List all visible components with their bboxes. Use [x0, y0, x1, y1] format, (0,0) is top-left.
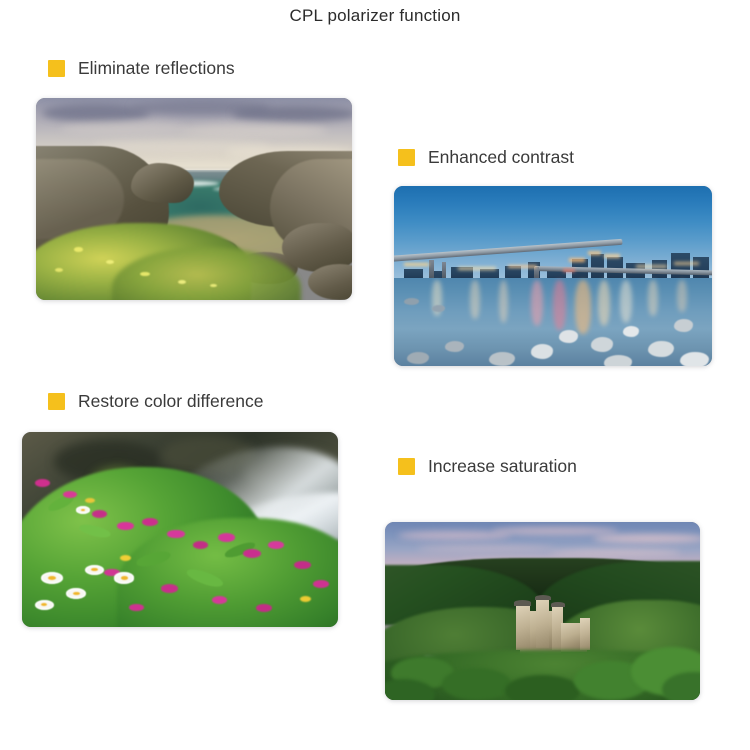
pebble [591, 337, 613, 351]
pebble [559, 330, 578, 343]
castle-tower [516, 604, 530, 650]
light-reflection [648, 280, 658, 316]
magenta-flower [212, 596, 228, 604]
magenta-flower [35, 479, 51, 487]
window-light [604, 254, 620, 258]
magenta-flower [161, 584, 178, 593]
pebble [531, 344, 553, 358]
cloud [549, 549, 681, 556]
magenta-flower [63, 491, 77, 498]
window-light [674, 262, 699, 265]
magenta-flower [218, 533, 235, 542]
pebble [407, 352, 429, 365]
building [693, 257, 709, 280]
magenta-flower [256, 604, 272, 612]
light-reflection [620, 280, 633, 323]
infographic-page: CPL polarizer function Eliminate reflect… [0, 0, 750, 750]
city-river-scene [394, 186, 712, 366]
castle-roof [535, 595, 551, 600]
stream-wildflowers-photo [22, 432, 338, 627]
treetop [442, 668, 511, 700]
white-daisy [41, 572, 63, 584]
white-daisy [35, 600, 54, 610]
city-river-dusk-photo [394, 186, 712, 366]
page-title: CPL polarizer function [0, 6, 750, 26]
caption-label: Restore color difference [78, 391, 263, 412]
yellow-flower [120, 555, 131, 561]
light-reflection [575, 280, 591, 334]
yellow-square-bullet-icon [398, 458, 415, 475]
caption-label: Increase saturation [428, 456, 577, 477]
caption-enhanced-contrast: Enhanced contrast [398, 147, 574, 168]
building [671, 253, 690, 280]
castle-tower [536, 599, 549, 649]
yellow-flower [140, 272, 149, 276]
magenta-flower [243, 549, 261, 558]
coastal-cove-scene [36, 98, 352, 300]
yellow-flower [300, 596, 311, 602]
castle-roof [514, 600, 531, 605]
magenta-flower [117, 522, 134, 531]
light-reflection [553, 280, 566, 330]
pebble [648, 341, 673, 357]
light-reflection [598, 280, 611, 327]
white-daisy [85, 565, 104, 575]
window-light [588, 251, 601, 255]
caption-restore-color-difference: Restore color difference [48, 391, 263, 412]
yellow-flower [178, 280, 186, 284]
pebble [445, 341, 464, 352]
window-light [404, 263, 429, 266]
window-light [569, 258, 585, 262]
coastal-cove-photo [36, 98, 352, 300]
white-daisy [114, 572, 135, 583]
castle-turret [580, 618, 589, 650]
stream-wildflowers-scene [22, 432, 338, 627]
yellow-square-bullet-icon [48, 60, 65, 77]
pebble [674, 319, 693, 332]
caption-label: Enhanced contrast [428, 147, 574, 168]
light-reflection [677, 280, 687, 312]
caption-label: Eliminate reflections [78, 58, 235, 79]
yellow-square-bullet-icon [398, 149, 415, 166]
window-light [458, 267, 496, 270]
white-daisy [76, 506, 91, 514]
caption-eliminate-reflections: Eliminate reflections [48, 58, 235, 79]
castle-valley-scene [385, 522, 700, 700]
window-light [636, 265, 668, 268]
magenta-flower [313, 580, 329, 588]
bridge-pier [429, 260, 434, 280]
yellow-flower [106, 260, 114, 264]
pebble [489, 352, 514, 366]
window-light [563, 269, 576, 272]
center-rock-stack [131, 163, 194, 203]
pebble [604, 355, 633, 366]
magenta-flower [294, 561, 311, 570]
castle-valley-photo [385, 522, 700, 700]
magenta-flower [92, 510, 108, 518]
yellow-square-bullet-icon [48, 393, 65, 410]
light-reflection [470, 280, 480, 320]
caption-increase-saturation: Increase saturation [398, 456, 577, 477]
magenta-flower [142, 518, 158, 526]
yellow-flower [55, 268, 63, 272]
magenta-flower [129, 604, 144, 611]
pebble [404, 298, 420, 305]
pebble [432, 305, 445, 312]
castle-roof [551, 602, 565, 607]
pebble [680, 352, 709, 366]
window-light [508, 265, 537, 268]
treetop [505, 675, 581, 700]
